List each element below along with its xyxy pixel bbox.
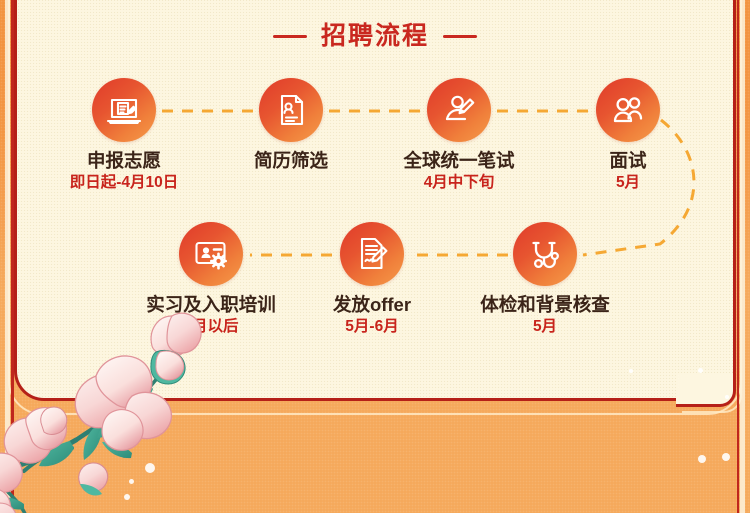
two-people-icon <box>596 78 660 142</box>
resume-document-icon <box>259 78 323 142</box>
magnolia-bloom-left <box>0 408 66 493</box>
process-step-offer[interactable]: 发放offer5月-6月 <box>272 222 472 335</box>
page-title: 招聘流程 <box>321 24 429 49</box>
signed-document-icon <box>340 222 404 286</box>
bokeh-dot <box>129 479 134 484</box>
step-date: 5月 <box>445 318 645 335</box>
right-edge-stripes <box>736 0 750 513</box>
step-date: 即日起-4月10日 <box>24 174 224 191</box>
recruitment-process-poster: 招聘流程 申报志愿即日起-4月10日 简历筛选 <box>0 0 750 513</box>
bokeh-dot <box>114 425 121 432</box>
title-rule-right <box>443 35 477 38</box>
right-cream-stripe <box>740 0 745 513</box>
step-label: 面试 <box>528 151 728 171</box>
left-edge-stripes <box>0 0 14 513</box>
step-label: 发放offer <box>272 295 472 315</box>
bokeh-dot <box>124 494 130 500</box>
bokeh-dot <box>698 455 706 463</box>
left-cream-stripe <box>5 0 10 513</box>
stethoscope-icon <box>513 222 577 286</box>
step-label: 体检和背景核查 <box>445 295 645 315</box>
step-date: 5月 <box>528 174 728 191</box>
content-card <box>14 0 736 401</box>
process-step-interview[interactable]: 面试5月 <box>528 78 728 191</box>
person-writing-icon <box>427 78 491 142</box>
card-paper-texture <box>17 0 733 398</box>
step-date: 5月-6月 <box>272 318 472 335</box>
poster-title-row: 招聘流程 <box>0 24 750 49</box>
magnolia-bloom-lower <box>0 488 17 513</box>
card-corner-notch <box>676 373 736 407</box>
bokeh-dot <box>145 463 155 473</box>
bokeh-dot <box>722 453 730 461</box>
laptop-form-icon <box>92 78 156 142</box>
magnolia-buds <box>41 407 108 496</box>
right-red-stripe <box>737 0 740 513</box>
id-badge-gear-icon <box>179 222 243 286</box>
title-rule-left <box>273 35 307 38</box>
process-step-medical-background-check[interactable]: 体检和背景核查5月 <box>445 222 645 335</box>
